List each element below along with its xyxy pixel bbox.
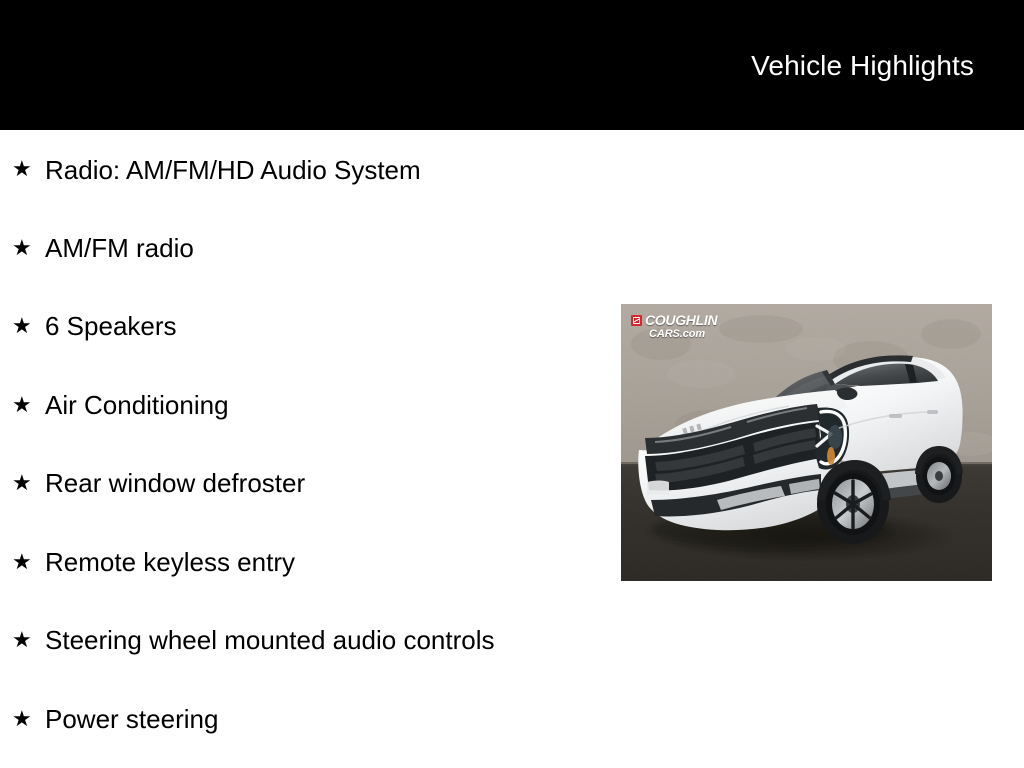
- list-item-label: Air Conditioning: [45, 390, 229, 420]
- list-item: ★ Radio: AM/FM/HD Audio System: [0, 130, 615, 209]
- header-bar: Vehicle Highlights: [0, 0, 1024, 130]
- list-item-label: 6 Speakers: [45, 311, 177, 341]
- list-item-label: Remote keyless entry: [45, 547, 295, 577]
- list-item: ★ Remote keyless entry: [0, 523, 615, 602]
- vehicle-photo: COUGHLIN CARS.com: [621, 304, 992, 581]
- list-item-label: Steering wheel mounted audio controls: [45, 625, 495, 655]
- star-bullet-icon: ★: [12, 394, 32, 416]
- star-bullet-icon: ★: [12, 158, 32, 180]
- list-item-label: AM/FM radio: [45, 233, 194, 263]
- star-bullet-icon: ★: [12, 237, 32, 259]
- star-bullet-icon: ★: [12, 472, 32, 494]
- star-bullet-icon: ★: [12, 708, 32, 730]
- star-bullet-icon: ★: [12, 315, 32, 337]
- list-item-label: Rear window defroster: [45, 468, 305, 498]
- vehicle-highlights-list: ★ Radio: AM/FM/HD Audio System ★ AM/FM r…: [0, 130, 615, 758]
- list-item: ★ Steering wheel mounted audio controls: [0, 601, 615, 680]
- star-bullet-icon: ★: [12, 551, 32, 573]
- list-item-label: Power steering: [45, 704, 218, 734]
- list-item: ★ Air Conditioning: [0, 366, 615, 445]
- list-item: ★ Power steering: [0, 680, 615, 759]
- page-title: Vehicle Highlights: [751, 49, 974, 83]
- vehicle-photo-image: [621, 304, 992, 581]
- list-item: ★ Rear window defroster: [0, 444, 615, 523]
- star-bullet-icon: ★: [12, 629, 32, 651]
- list-item: ★ 6 Speakers: [0, 287, 615, 366]
- list-item-label: Radio: AM/FM/HD Audio System: [45, 155, 421, 185]
- list-item: ★ AM/FM radio: [0, 209, 615, 288]
